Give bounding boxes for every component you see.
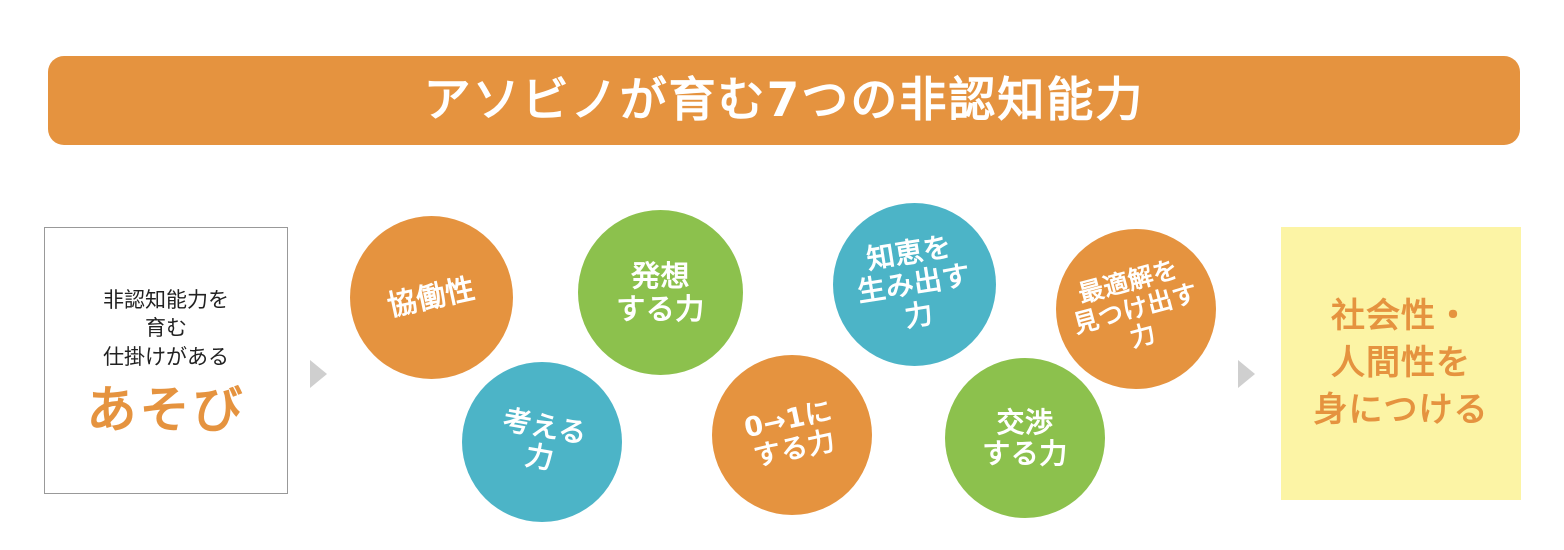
title-banner: アソビノが育む7つの非認知能力 bbox=[48, 56, 1520, 145]
skill-circle-label: 考える 力 bbox=[495, 404, 589, 480]
outcome-panel-text: 社会性・ 人間性を 身につける bbox=[1314, 293, 1489, 434]
skill-circle-label: 最適解を 見つけ出す 力 bbox=[1064, 252, 1209, 366]
skill-circle-label: 0→1に する力 bbox=[742, 396, 842, 474]
title-banner-text: アソビノが育む7つの非認知能力 bbox=[424, 77, 1145, 124]
skill-circle-kangaeru-chikara: 考える 力 bbox=[462, 362, 622, 522]
skill-circle-kyodosei: 協働性 bbox=[350, 216, 513, 379]
flow-arrow-right-icon-left bbox=[310, 360, 327, 388]
skill-circle-saitekikai-wo-mitsukedasu-chikara: 最適解を 見つけ出す 力 bbox=[1056, 229, 1216, 389]
skill-circle-label: 交渉 する力 bbox=[982, 407, 1068, 470]
flow-arrow-right-icon-right bbox=[1238, 360, 1255, 388]
skill-circle-label: 協働性 bbox=[385, 272, 478, 322]
input-box-caption: 非認知能力を 育む 仕掛けがある bbox=[103, 286, 229, 371]
skill-circle-label: 発想 する力 bbox=[616, 260, 705, 325]
input-box-keyword: あそび bbox=[87, 385, 246, 435]
skill-circle-label: 知恵を 生み出す 力 bbox=[851, 229, 978, 340]
skill-circle-kosho-suru-chikara: 交渉 する力 bbox=[945, 358, 1105, 518]
skill-circle-zero-to-one: 0→1に する力 bbox=[712, 355, 872, 515]
infographic-canvas: アソビノが育む7つの非認知能力 非認知能力を 育む 仕掛けがある あそび 協働性… bbox=[0, 0, 1564, 550]
outcome-panel: 社会性・ 人間性を 身につける bbox=[1281, 227, 1521, 500]
skill-circle-chie-wo-umidasu-chikara: 知恵を 生み出す 力 bbox=[833, 203, 996, 366]
skill-circle-hasso-suru-chikara: 発想 する力 bbox=[578, 210, 743, 375]
input-box: 非認知能力を 育む 仕掛けがある あそび bbox=[44, 227, 288, 494]
